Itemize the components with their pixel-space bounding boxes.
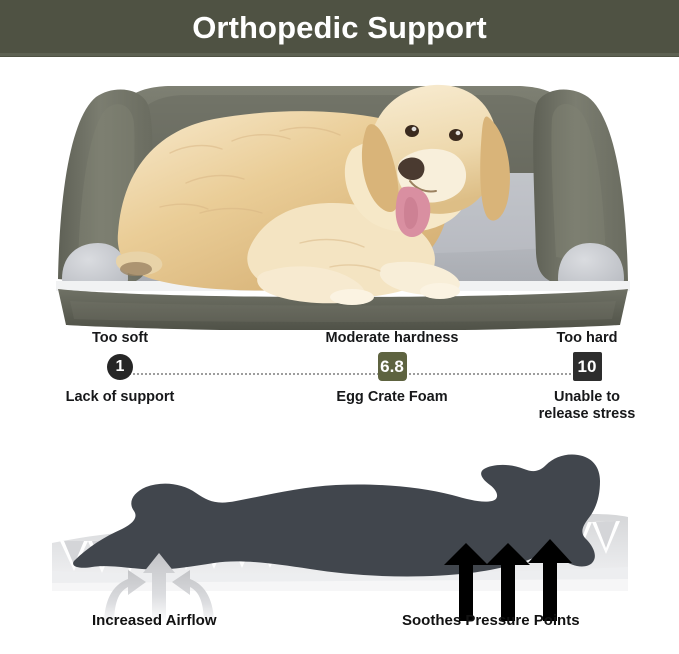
pressure-arrows <box>444 539 572 621</box>
scale-bottom-label-moderate: Egg Crate Foam <box>297 389 487 406</box>
infographic-page: Orthopedic Support <box>0 0 679 654</box>
page-title: Orthopedic Support <box>192 12 487 43</box>
scale-top-label-moderate: Moderate hardness <box>297 330 487 347</box>
scale-badge-wrap-too-hard: 10 <box>512 351 662 383</box>
scale-bottom-label-too-hard-line1: Unable to <box>512 389 662 406</box>
scale-badge-moderate: 6.8 <box>378 352 407 381</box>
product-photo <box>0 57 679 330</box>
scale-bottom-label-too-hard-line2: release stress <box>512 406 662 423</box>
diagram-label-row: Increased Airflow Soothes Pressure Point… <box>0 613 679 653</box>
dog-on-bed-illustration <box>0 57 679 330</box>
label-increased-airflow: Increased Airflow <box>92 613 216 630</box>
scale-point-moderate: Moderate hardness 6.8 Egg Crate Foam <box>297 330 487 406</box>
scale-point-too-hard: Too hard 10 Unable to release stress <box>512 330 662 423</box>
foam-cross-section-diagram: Increased Airflow Soothes Pressure Point… <box>0 425 679 654</box>
scale-badge-wrap-moderate: 6.8 <box>297 351 487 383</box>
scale-badge-wrap-too-soft: 1 <box>40 351 200 383</box>
hardness-scale: Too soft 1 Lack of support Moderate hard… <box>0 330 679 425</box>
scale-point-too-soft: Too soft 1 Lack of support <box>40 330 200 406</box>
scale-top-label-too-hard: Too hard <box>512 330 662 347</box>
header-divider <box>0 53 679 56</box>
scale-badge-too-hard: 10 <box>573 352 602 381</box>
scale-bottom-label-too-soft: Lack of support <box>40 389 200 406</box>
header-banner: Orthopedic Support <box>0 0 679 57</box>
scale-top-label-too-soft: Too soft <box>40 330 200 347</box>
label-soothes-pressure-points: Soothes Pressure Points <box>402 613 580 630</box>
scale-badge-too-soft: 1 <box>107 354 133 380</box>
